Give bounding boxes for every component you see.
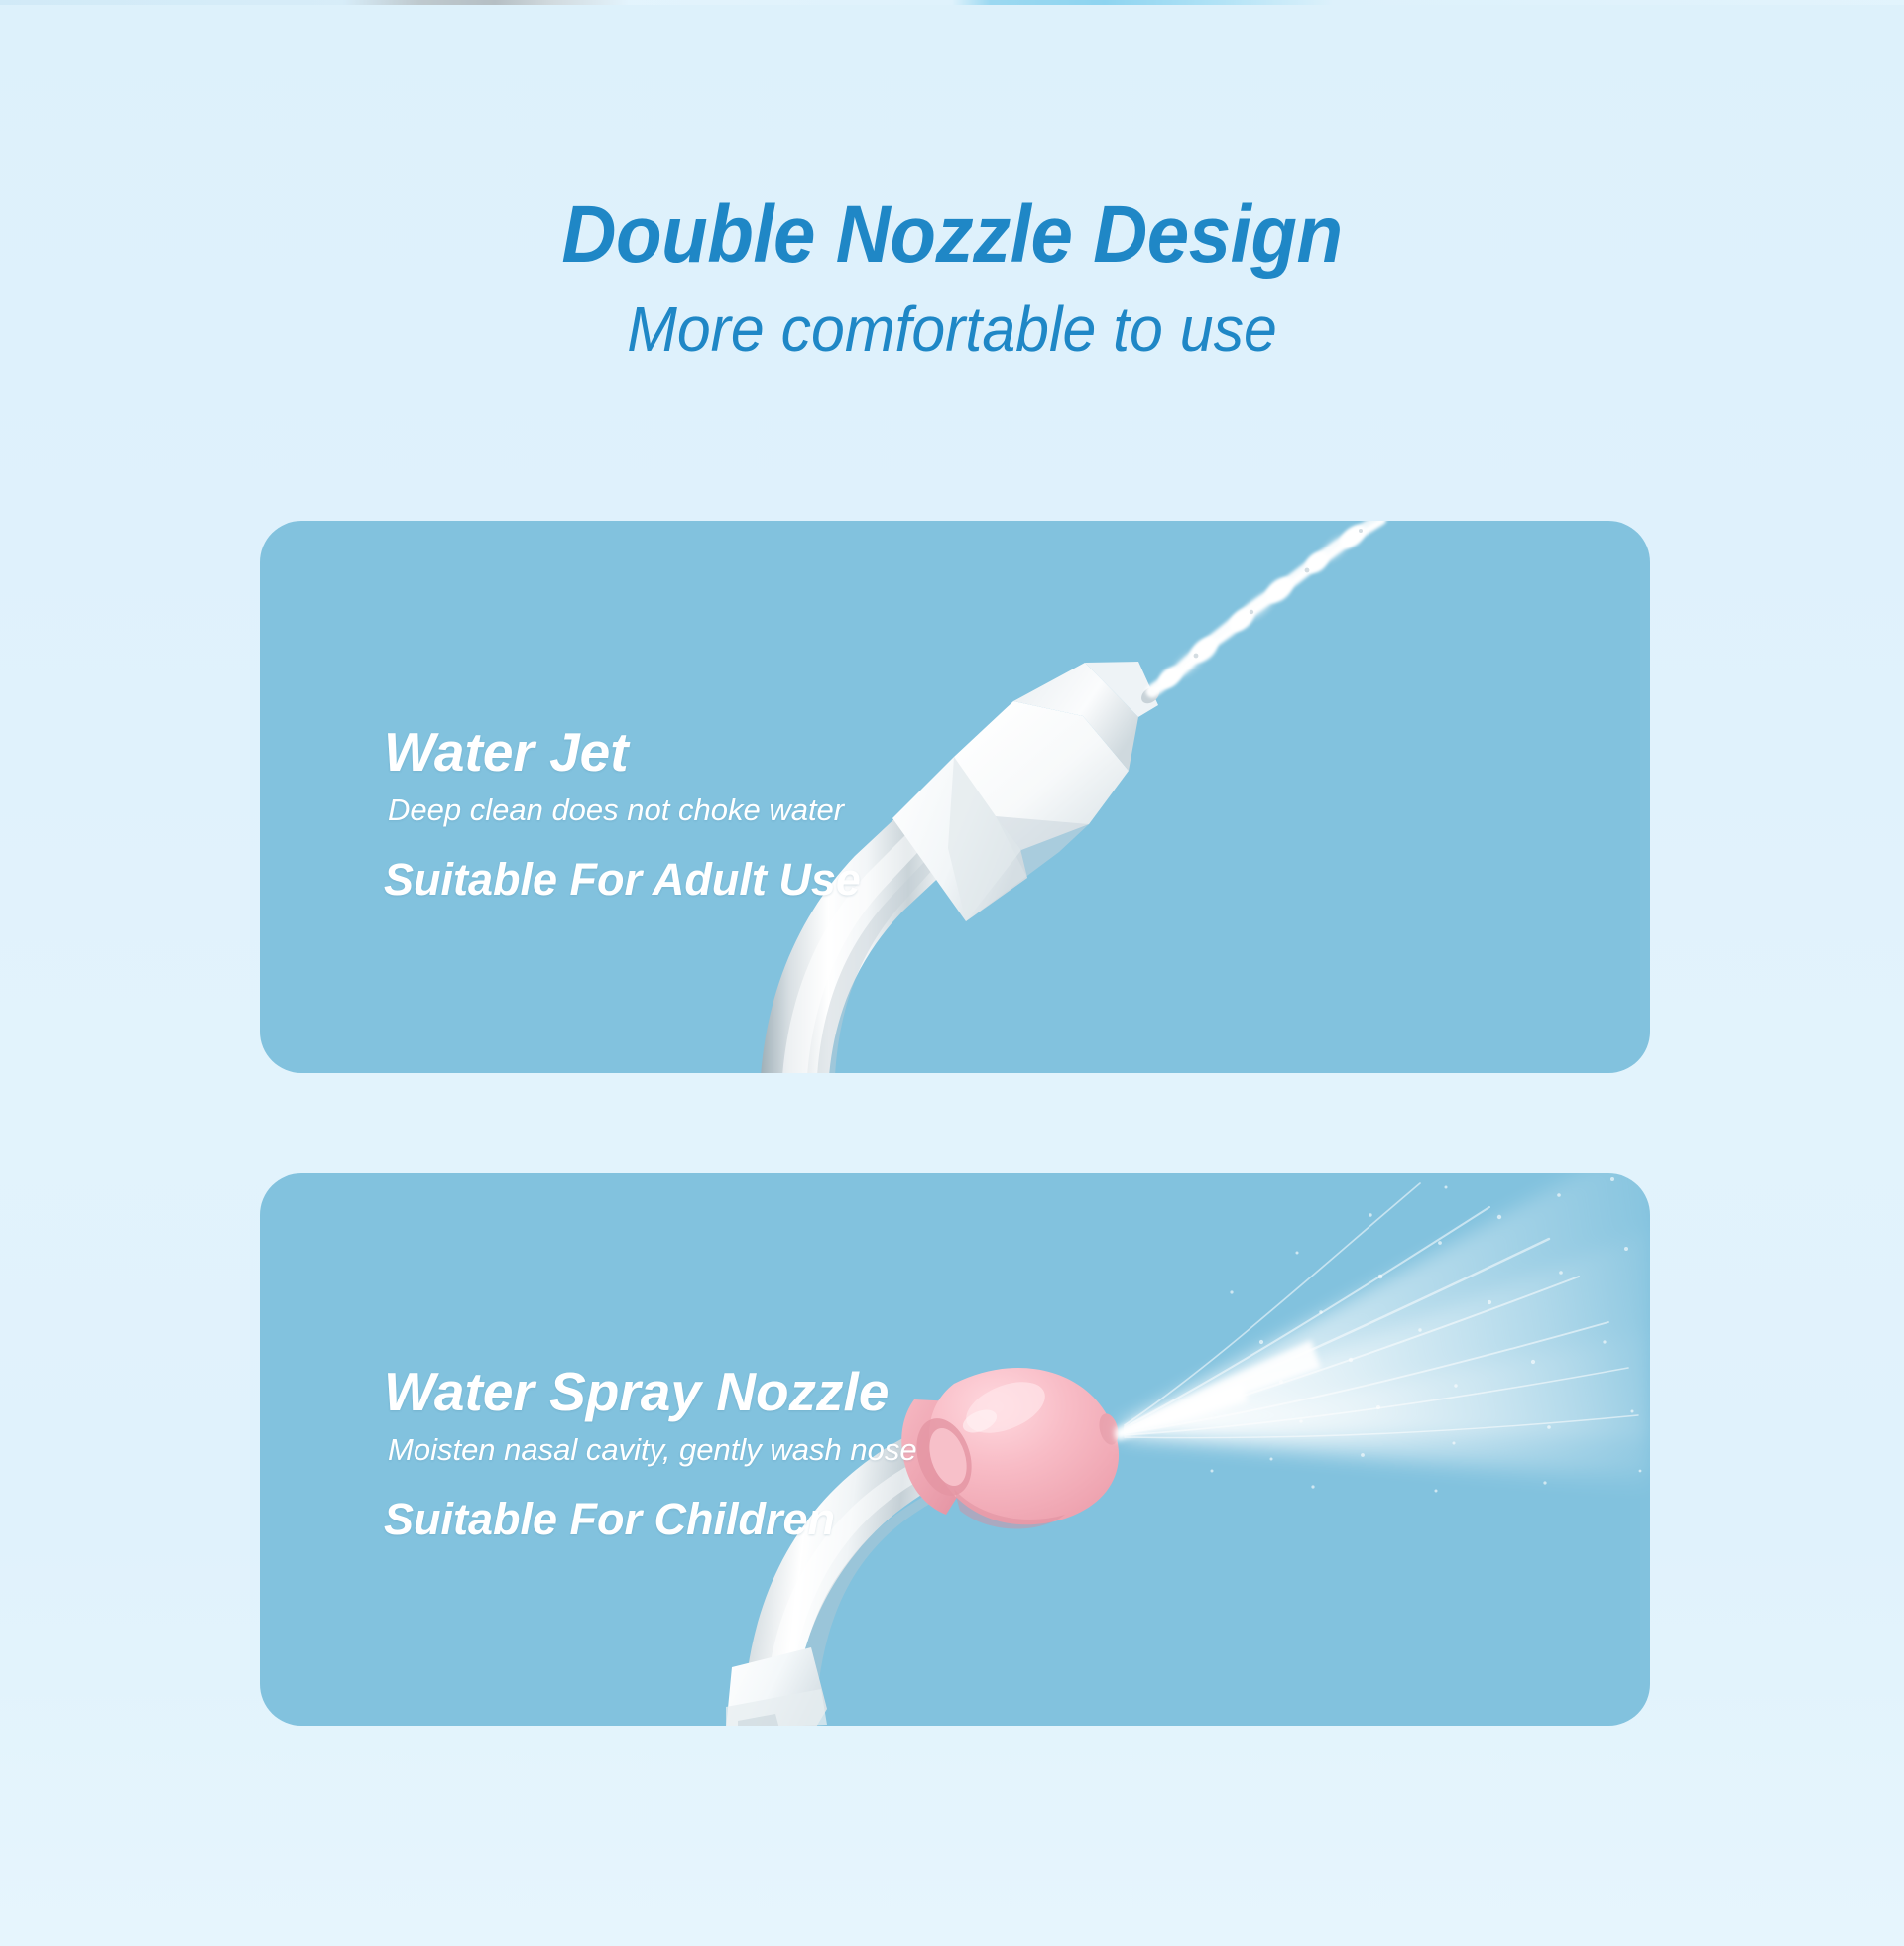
feature-card-water-spray-nozzle: Water Spray Nozzle Moisten nasal cavity,…: [260, 1173, 1650, 1726]
card-title-water-spray-nozzle: Water Spray Nozzle: [384, 1364, 917, 1421]
card-note-water-spray-nozzle: Suitable For Children: [384, 1496, 917, 1542]
card-note-water-jet: Suitable For Adult Use: [384, 856, 861, 903]
top-image-sliver: [0, 0, 1904, 5]
card-title-water-jet: Water Jet: [384, 724, 861, 782]
water-spray-text-block: Water Spray Nozzle Moisten nasal cavity,…: [384, 1364, 917, 1542]
card-subtitle-water-jet: Deep clean does not choke water: [388, 793, 861, 827]
water-jet-text-block: Water Jet Deep clean does not choke wate…: [384, 724, 861, 903]
page-subtitle: More comfortable to use: [48, 298, 1856, 361]
page-title: Double Nozzle Design: [66, 194, 1838, 276]
product-feature-page: Double Nozzle Design More comfortable to…: [0, 0, 1904, 1946]
heading-block: Double Nozzle Design More comfortable to…: [0, 194, 1904, 361]
feature-card-water-jet: Water Jet Deep clean does not choke wate…: [260, 521, 1650, 1073]
card-subtitle-water-spray-nozzle: Moisten nasal cavity, gently wash nose: [388, 1433, 917, 1467]
